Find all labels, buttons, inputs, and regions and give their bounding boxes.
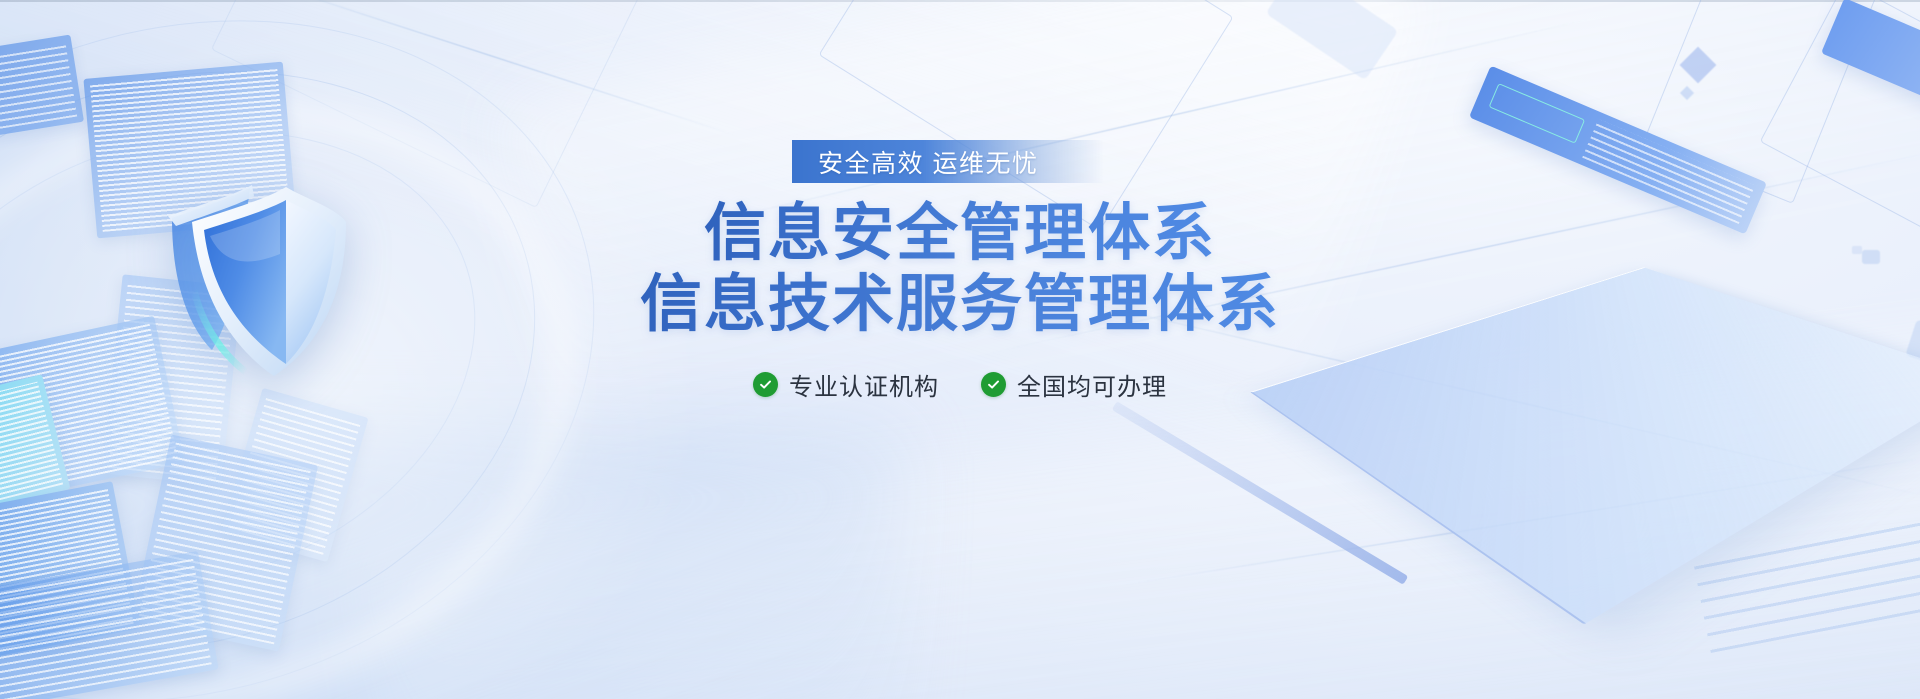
feature-item: 全国均可办理 [981, 367, 1167, 402]
banner-content: 安全高效 运维无忧 信息安全管理体系 信息技术服务管理体系 专业认证机构 [0, 0, 1920, 699]
feature-item: 专业认证机构 [753, 367, 939, 402]
tagline-badge: 安全高效 运维无忧 [792, 140, 1104, 183]
headline-line-1: 信息安全管理体系 [704, 197, 1216, 270]
hero-banner: 安全高效 运维无忧 信息安全管理体系 信息技术服务管理体系 专业认证机构 [0, 0, 1920, 699]
headline-line-2: 信息技术服务管理体系 [640, 268, 1280, 341]
check-circle-icon [753, 372, 778, 397]
feature-list: 专业认证机构 全国均可办理 [753, 367, 1167, 402]
feature-label: 全国均可办理 [1017, 367, 1167, 402]
feature-label: 专业认证机构 [789, 367, 939, 402]
tagline-text: 安全高效 运维无忧 [818, 144, 1038, 180]
check-circle-icon [981, 372, 1006, 397]
